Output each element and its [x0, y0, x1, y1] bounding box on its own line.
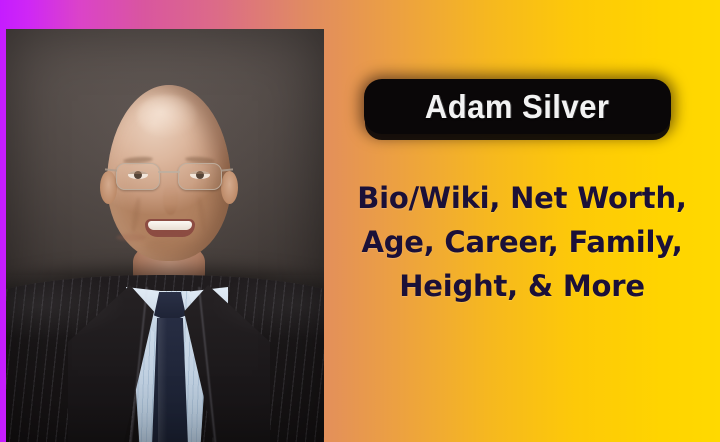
smile-line-right [196, 197, 208, 233]
ear-left [100, 171, 117, 204]
mouth [145, 219, 195, 237]
tie-body [151, 318, 189, 442]
thumbnail-card: Adam Silver Bio/Wiki, Net Worth, Age, Ca… [0, 0, 720, 442]
subtitle-line-3: Height, & More [328, 264, 716, 308]
portrait-photo [6, 29, 324, 442]
scalp-highlight [137, 95, 197, 137]
teeth [148, 221, 192, 230]
ear-right [221, 171, 238, 204]
lens-left [116, 163, 160, 190]
smile-line-left [130, 197, 142, 233]
subtitle-line-1: Bio/Wiki, Net Worth, [328, 176, 716, 220]
lower-lip [116, 234, 146, 241]
glasses-bridge [158, 171, 180, 173]
page-title: Adam Silver [425, 88, 609, 126]
title-badge: Adam Silver [364, 79, 671, 134]
subtitle-line-2: Age, Career, Family, [328, 220, 716, 264]
subtitle-block: Bio/Wiki, Net Worth, Age, Career, Family… [328, 176, 716, 308]
lens-right [178, 163, 222, 190]
nose [163, 185, 178, 215]
chin [145, 237, 193, 257]
